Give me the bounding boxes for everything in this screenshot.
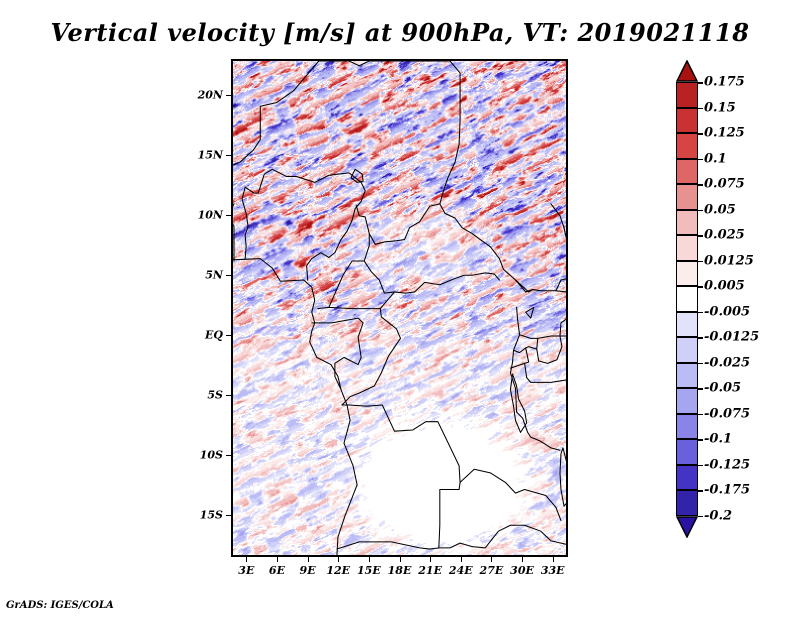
- y-axis-label: 20N: [179, 89, 223, 102]
- colorbar-label: 0.1: [704, 151, 727, 166]
- y-axis-label: 10S: [179, 449, 223, 462]
- colorbar-tick: [698, 414, 703, 416]
- x-axis-tick: [308, 557, 309, 562]
- colorbar-swatch: [676, 261, 698, 287]
- colorbar-tick: [698, 261, 703, 263]
- colorbar-tick: [698, 490, 703, 492]
- colorbar-swatch: [676, 388, 698, 414]
- colorbar-tick: [698, 516, 703, 518]
- colorbar-label: -0.005: [704, 304, 750, 319]
- y-axis-label: 10N: [179, 209, 223, 222]
- y-axis-tick: [226, 155, 231, 156]
- x-axis-tick: [400, 557, 401, 562]
- colorbar-label: 0.05: [704, 202, 736, 217]
- x-axis-label: 21E: [418, 564, 442, 577]
- colorbar-label: 0.005: [704, 279, 745, 294]
- x-axis-label: 6E: [269, 564, 285, 577]
- colorbar-swatch: [676, 82, 698, 108]
- colorbar-swatch: [676, 337, 698, 363]
- y-axis-label: 15S: [179, 509, 223, 522]
- x-axis-label: 27E: [480, 564, 504, 577]
- colorbar-tick: [698, 312, 703, 314]
- x-axis-tick: [246, 557, 247, 562]
- x-axis-label: 24E: [449, 564, 473, 577]
- x-axis-tick: [277, 557, 278, 562]
- colorbar-label: 0.075: [704, 177, 745, 192]
- x-axis-tick: [461, 557, 462, 562]
- y-axis-label: 5N: [179, 269, 223, 282]
- y-axis-tick: [226, 455, 231, 456]
- colorbar-swatch: [676, 184, 698, 210]
- colorbar-tick: [698, 465, 703, 467]
- colorbar-tick: [698, 184, 703, 186]
- y-axis-label: EQ: [179, 329, 223, 342]
- colorbar-swatch: [676, 286, 698, 312]
- colorbar-swatch: [676, 210, 698, 236]
- x-axis-tick: [522, 557, 523, 562]
- colorbar-tick: [698, 439, 703, 441]
- colorbar-label: -0.075: [704, 406, 750, 421]
- y-axis-tick: [226, 95, 231, 96]
- colorbar-swatch: [676, 439, 698, 465]
- colorbar-tick: [698, 133, 703, 135]
- x-axis-label: 12E: [326, 564, 350, 577]
- y-axis-tick: [226, 515, 231, 516]
- colorbar-swatch: [676, 490, 698, 516]
- x-axis-tick: [491, 557, 492, 562]
- colorbar-swatch: [676, 312, 698, 338]
- colorbar-extend-min-arrow: [676, 516, 698, 538]
- colorbar-swatch: [676, 465, 698, 491]
- x-axis-tick: [430, 557, 431, 562]
- colorbar-extend-max-arrow: [676, 60, 698, 82]
- x-axis-tick: [369, 557, 370, 562]
- colorbar-label: 0.025: [704, 228, 745, 243]
- y-axis-label: 15N: [179, 149, 223, 162]
- colorbar-tick: [698, 363, 703, 365]
- x-axis-label: 9E: [300, 564, 316, 577]
- colorbar-tick: [698, 286, 703, 288]
- x-axis-label: 18E: [388, 564, 412, 577]
- colorbar-swatch: [676, 363, 698, 389]
- colorbar-swatch: [676, 414, 698, 440]
- vertical-velocity-field: [233, 61, 566, 555]
- y-axis-tick: [226, 335, 231, 336]
- map-plot-area[interactable]: [231, 59, 568, 557]
- x-axis-label: 15E: [357, 564, 381, 577]
- colorbar-swatch: [676, 133, 698, 159]
- colorbar-tick: [698, 159, 703, 161]
- colorbar-label: 0.125: [704, 126, 745, 141]
- colorbar-label: 0.175: [704, 75, 745, 90]
- x-axis-tick: [553, 557, 554, 562]
- colorbar-tick: [698, 388, 703, 390]
- colorbar-label: 0.0125: [704, 253, 754, 268]
- colorbar-label: -0.025: [704, 355, 750, 370]
- colorbar-label: -0.1: [704, 432, 732, 447]
- colorbar-tick: [698, 108, 703, 110]
- y-axis-label: 5S: [179, 389, 223, 402]
- colorbar-swatch: [676, 108, 698, 134]
- page-title: Vertical velocity [m/s] at 900hPa, VT: 2…: [0, 18, 800, 47]
- x-axis-label: 33E: [541, 564, 565, 577]
- colorbar-tick: [698, 235, 703, 237]
- footer-credit: GrADS: IGES/COLA: [6, 600, 114, 611]
- colorbar-label: -0.0125: [704, 330, 759, 345]
- colorbar-swatch: [676, 235, 698, 261]
- colorbar-label: -0.05: [704, 381, 741, 396]
- colorbar-label: 0.15: [704, 100, 736, 115]
- x-axis-tick: [338, 557, 339, 562]
- colorbar-label: -0.2: [704, 508, 732, 523]
- x-axis-label: 30E: [510, 564, 534, 577]
- y-axis-tick: [226, 275, 231, 276]
- x-axis-label: 3E: [238, 564, 254, 577]
- colorbar-label: -0.125: [704, 457, 750, 472]
- y-axis-tick: [226, 215, 231, 216]
- colorbar-swatch: [676, 159, 698, 185]
- colorbar-tick: [698, 82, 703, 84]
- y-axis-tick: [226, 395, 231, 396]
- colorbar-tick: [698, 337, 703, 339]
- colorbar-tick: [698, 210, 703, 212]
- colorbar-label: -0.175: [704, 483, 750, 498]
